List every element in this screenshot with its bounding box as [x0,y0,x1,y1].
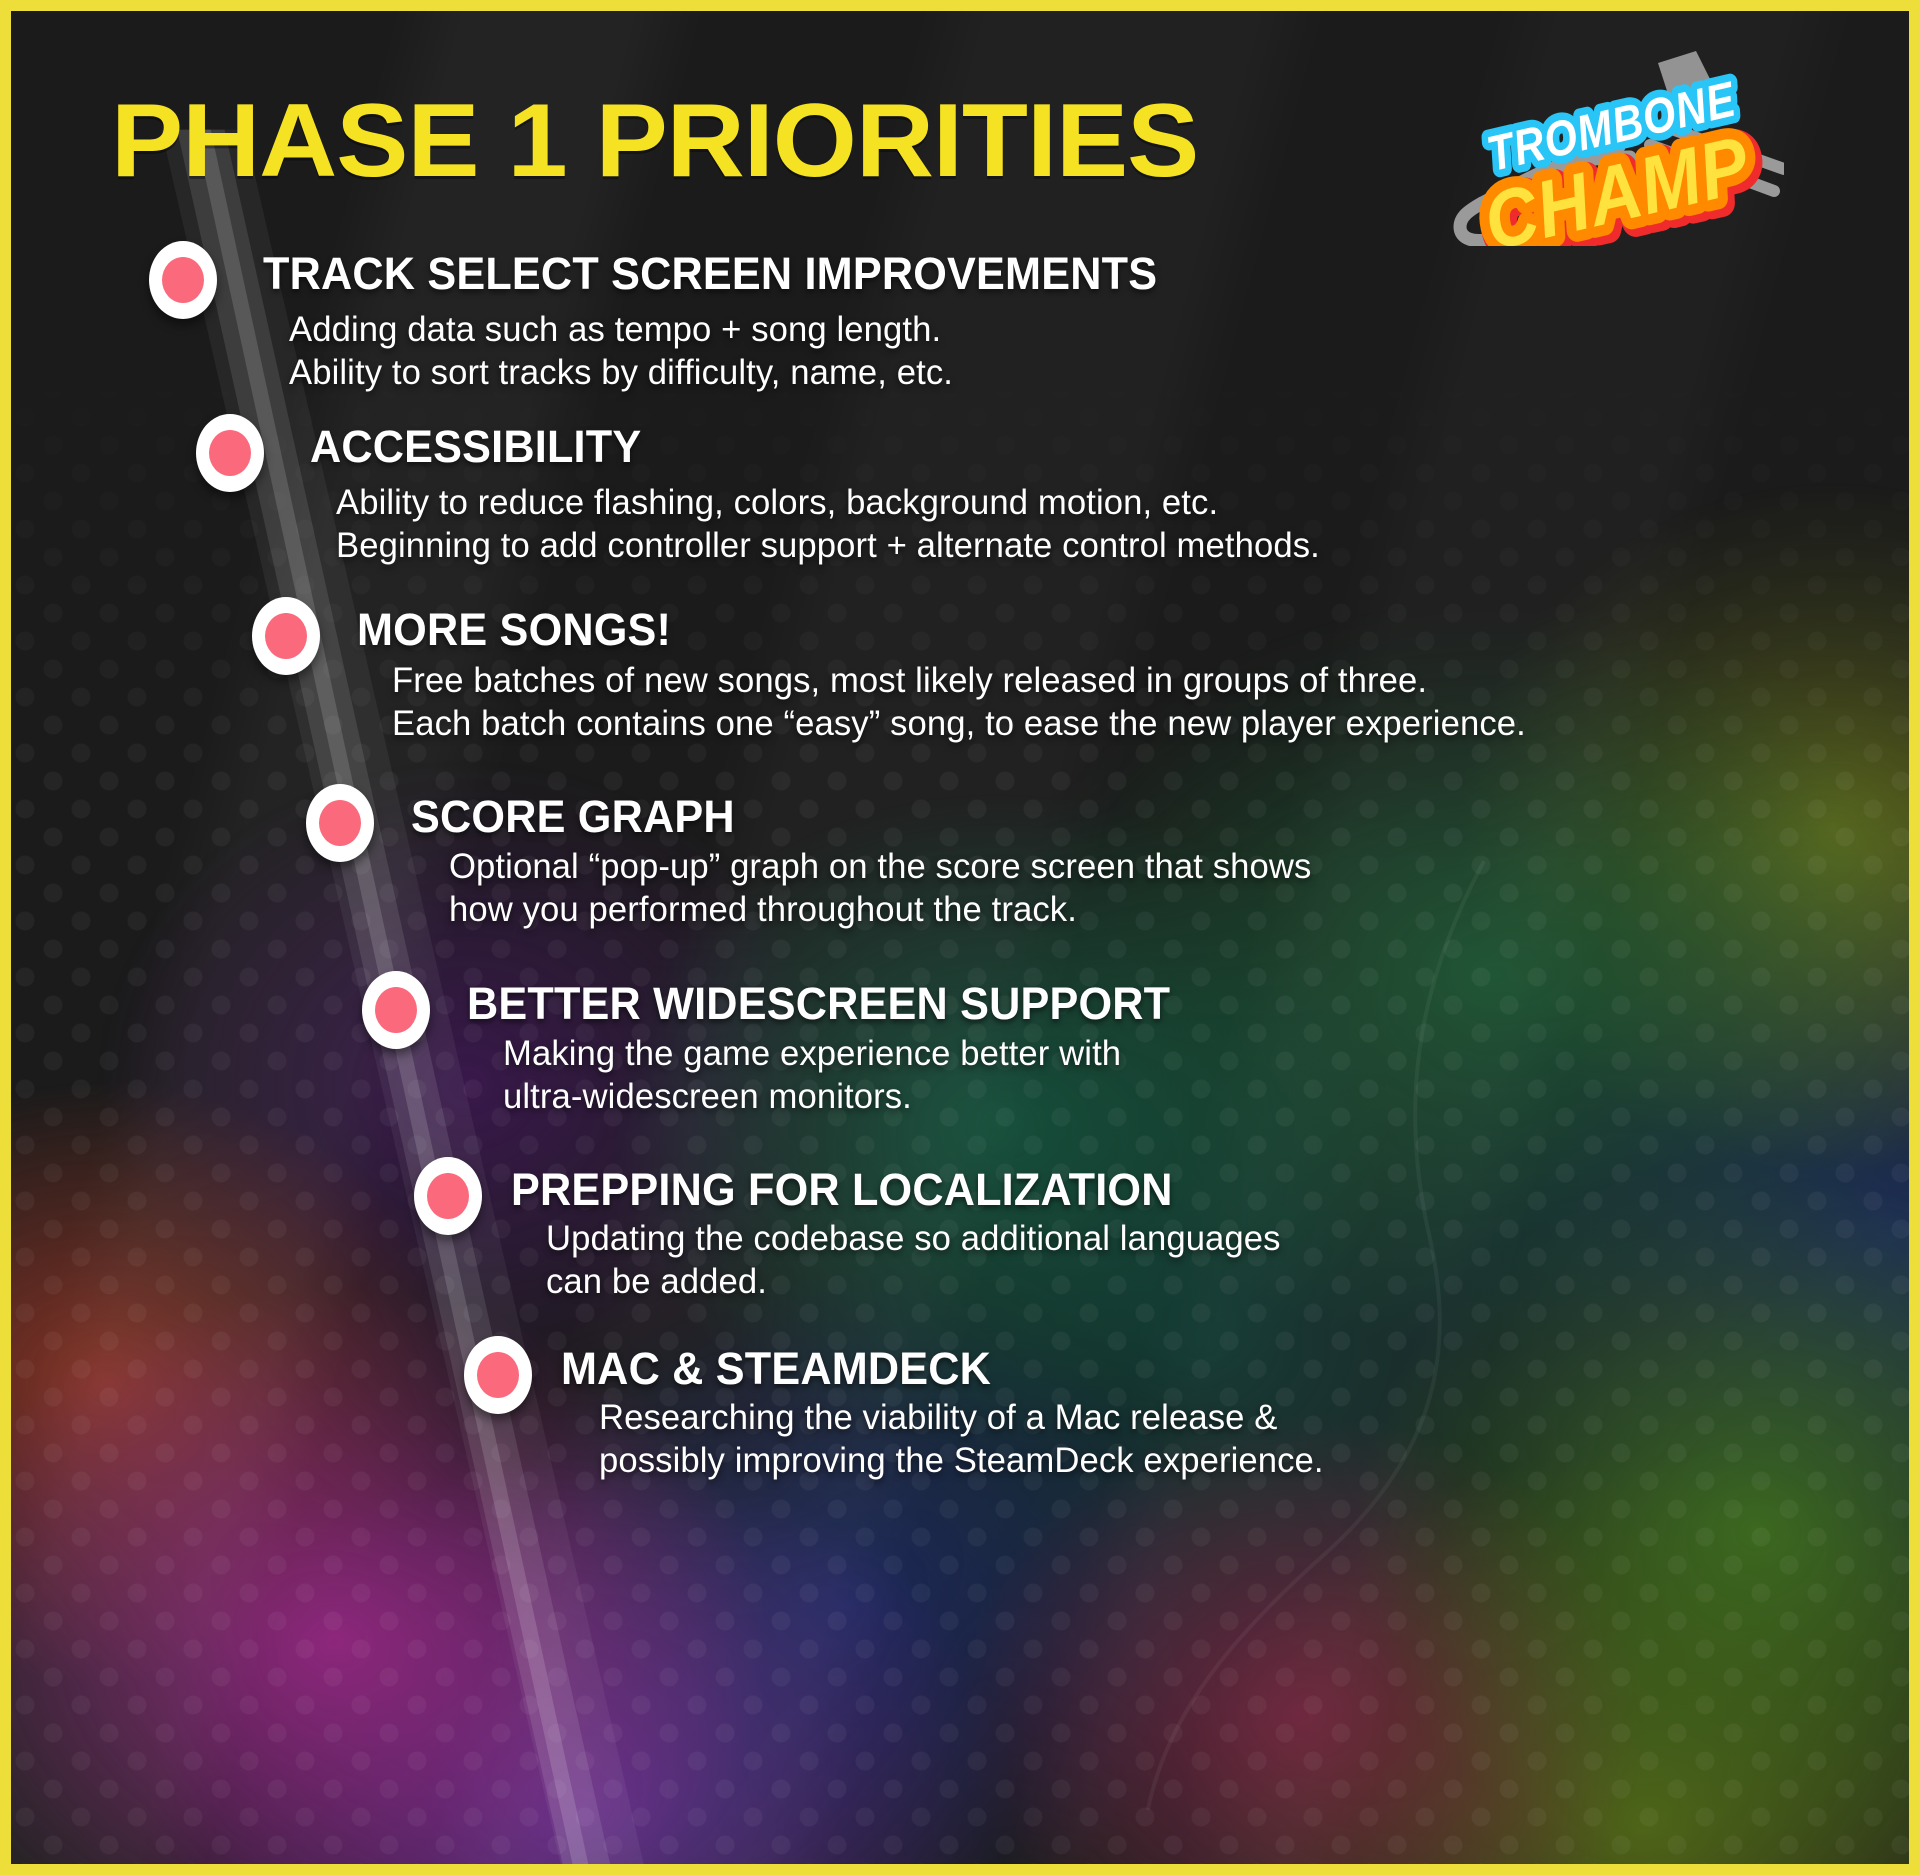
bullet-core [209,430,251,476]
bullet-marker-icon [196,414,264,492]
item-heading: ACCESSIBILITY [310,424,641,469]
bullet-marker-icon [414,1157,482,1235]
bullet-core [162,257,204,303]
desc-line: Researching the viability of a Mac relea… [599,1396,1324,1439]
bullet-core [319,800,361,846]
item-heading: PREPPING FOR LOCALIZATION [511,1167,1173,1212]
poster-root: PHASE 1 PRIORITIES TROMBONE TROMBONE CHA… [0,0,1920,1875]
desc-line: Each batch contains one “easy” song, to … [392,702,1526,745]
bullet-core [375,987,417,1033]
bullet-marker-icon [149,241,217,319]
bullet-marker-icon [306,784,374,862]
desc-line: Optional “pop-up” graph on the score scr… [449,845,1311,888]
item-description: Updating the codebase so additional lang… [546,1217,1281,1304]
bullet-marker-icon [362,971,430,1049]
desc-line: Updating the codebase so additional lang… [546,1217,1281,1260]
priorities-list: TRACK SELECT SCREEN IMPROVEMENTS Adding … [11,11,1909,1864]
desc-line: Ability to sort tracks by difficulty, na… [289,351,953,394]
item-description: Ability to reduce flashing, colors, back… [336,481,1320,568]
desc-line: Adding data such as tempo + song length. [289,308,953,351]
desc-line: Making the game experience better with [503,1032,1121,1075]
desc-line: Beginning to add controller support + al… [336,524,1320,567]
bullet-core [265,613,307,659]
item-description: Researching the viability of a Mac relea… [599,1396,1324,1483]
item-heading: BETTER WIDESCREEN SUPPORT [467,981,1170,1026]
item-heading: MORE SONGS! [357,607,671,652]
desc-line: ultra-widescreen monitors. [503,1075,1121,1118]
bullet-core [477,1352,519,1398]
item-heading: MAC & STEAMDECK [561,1346,991,1391]
desc-line: Free batches of new songs, most likely r… [392,659,1526,702]
item-description: Making the game experience better with u… [503,1032,1121,1119]
item-heading: TRACK SELECT SCREEN IMPROVEMENTS [263,251,1157,296]
bullet-marker-icon [464,1336,532,1414]
item-description: Free batches of new songs, most likely r… [392,659,1526,746]
desc-line: possibly improving the SteamDeck experie… [599,1439,1324,1482]
bullet-core [427,1173,469,1219]
item-description: Adding data such as tempo + song length.… [289,308,953,395]
bullet-marker-icon [252,597,320,675]
item-heading: SCORE GRAPH [411,794,735,839]
desc-line: Ability to reduce flashing, colors, back… [336,481,1320,524]
desc-line: can be added. [546,1260,1281,1303]
item-description: Optional “pop-up” graph on the score scr… [449,845,1311,932]
desc-line: how you performed throughout the track. [449,888,1311,931]
